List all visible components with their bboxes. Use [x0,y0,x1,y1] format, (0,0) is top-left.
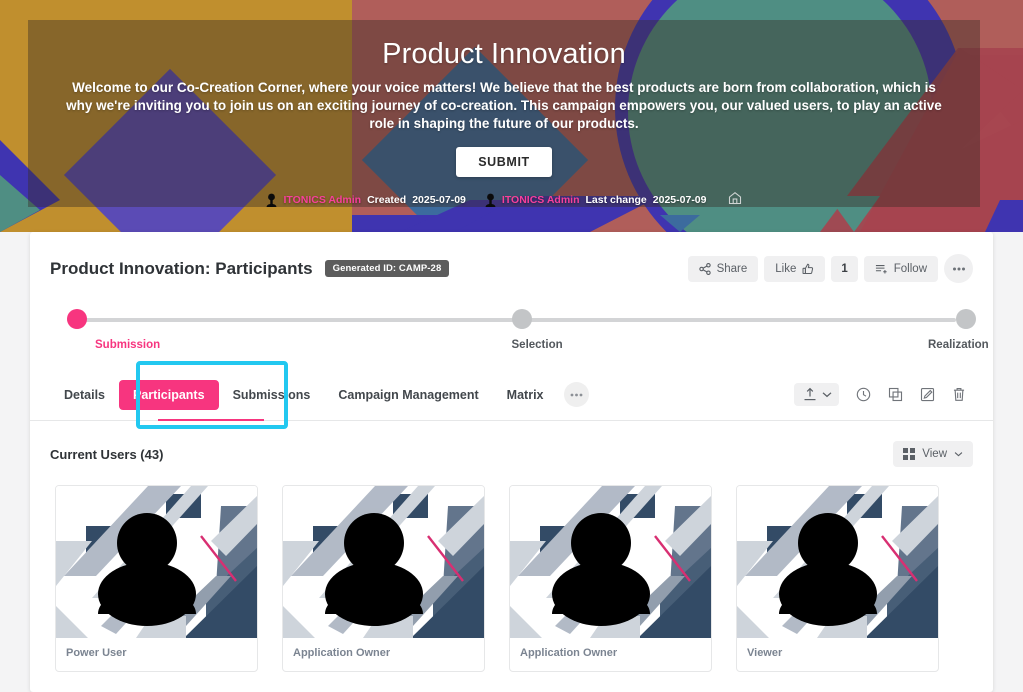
list-item[interactable]: Viewer [736,485,939,672]
export-button[interactable] [794,383,839,406]
like-label: Like [775,263,796,275]
share-icon [699,263,711,275]
tab-participants[interactable]: Participants [119,380,219,410]
view-selector-button[interactable]: View [893,441,973,467]
stepper-dot [67,309,87,329]
tab-active-underline [158,419,264,421]
ellipsis-icon [952,267,966,271]
tab-details[interactable]: Details [50,380,119,410]
tab-matrix[interactable]: Matrix [493,380,558,410]
hero-banner: Product Innovation Welcome to our Co-Cre… [28,20,980,207]
like-count[interactable]: 1 [831,256,857,282]
copy-icon [888,387,903,402]
chevron-down-icon [954,451,963,457]
share-label: Share [717,263,748,275]
user-card-grid: Power User [30,467,993,672]
last-change-label: Last change [586,194,647,206]
avatar-artwork [737,486,938,638]
edit-button[interactable] [913,382,941,408]
user-role: Application Owner [283,638,484,671]
thumbs-up-icon [802,263,814,275]
tab-overflow-button[interactable] [564,382,589,407]
view-label: View [922,448,947,460]
follow-button[interactable]: Follow [864,256,938,282]
tab-campaign-management[interactable]: Campaign Management [324,380,492,410]
avatar [283,486,484,638]
hero-description: Welcome to our Co-Creation Corner, where… [64,79,944,133]
list-item[interactable]: Application Owner [509,485,712,672]
tab-bar: Details Participants Submissions Campaig… [30,369,993,421]
header-actions: Share Like 1 Follow [688,254,973,283]
user-role: Application Owner [510,638,711,671]
follow-label: Follow [894,263,927,275]
hero-title: Product Innovation [28,20,980,71]
person-icon [266,193,277,207]
chevron-down-icon [822,391,832,398]
copy-button[interactable] [881,382,909,408]
hero-metadata: ITONICS Admin Created 2025-07-09 ITONICS… [28,191,980,207]
ellipsis-icon [570,393,583,397]
avatar [737,486,938,638]
delete-button[interactable] [945,382,973,408]
last-change-date: 2025-07-09 [653,194,707,206]
history-icon [856,387,871,402]
stepper-dot [512,309,532,329]
export-icon [803,387,817,402]
last-change-user: ITONICS Admin [502,194,580,206]
avatar-artwork [510,486,711,638]
created-by-group: ITONICS Admin Created 2025-07-09 [266,193,465,207]
created-label: Created [367,194,406,206]
home-icon[interactable] [728,191,742,207]
list-item[interactable]: Power User [55,485,258,672]
tab-submissions[interactable]: Submissions [219,380,325,410]
created-by-user: ITONICS Admin [283,194,361,206]
participants-card: Product Innovation: Participants Generat… [30,232,993,692]
grid-icon [903,448,915,460]
list-item[interactable]: Application Owner [282,485,485,672]
edit-icon [920,387,935,402]
avatar-artwork [283,486,484,638]
more-options-button[interactable] [944,254,973,283]
stepper-dot [956,309,976,329]
created-date: 2025-07-09 [412,194,466,206]
user-role: Viewer [737,638,938,671]
delete-icon [952,387,966,402]
current-users-title: Current Users (43) [50,447,163,462]
tab-toolbar [794,382,973,408]
submit-button[interactable]: SUBMIT [456,147,552,177]
avatar-artwork [56,486,257,638]
avatar [510,486,711,638]
user-role: Power User [56,638,257,671]
progress-stepper: Submission Selection Realization [57,309,966,357]
current-users-header: Current Users (43) View [30,421,993,467]
generated-id-badge: Generated ID: CAMP-28 [325,260,450,277]
person-icon [485,193,496,207]
page-title: Product Innovation: Participants [50,259,313,279]
like-button[interactable]: Like [764,256,825,282]
last-change-group: ITONICS Admin Last change 2025-07-09 [485,193,707,207]
history-button[interactable] [849,382,877,408]
card-header: Product Innovation: Participants Generat… [30,232,993,283]
share-button[interactable]: Share [688,256,759,282]
avatar [56,486,257,638]
follow-icon [875,263,888,275]
